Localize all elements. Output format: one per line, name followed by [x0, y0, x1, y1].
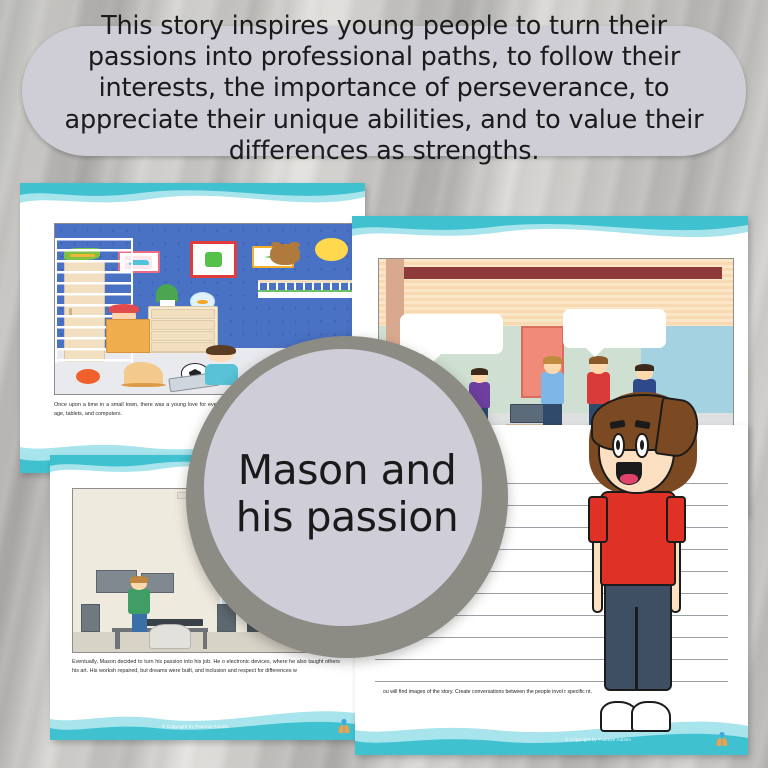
- page-wave-bottom: [50, 706, 368, 740]
- toy-box: [106, 319, 150, 353]
- page-wave-top: [20, 183, 365, 213]
- character-eye-left: [612, 433, 625, 459]
- workshop-page-paragraph: Eventually, Mason decided to turn his pa…: [72, 658, 340, 677]
- title-line-2: his passion: [236, 494, 459, 541]
- title-badge-label: Mason and his passion: [186, 336, 508, 658]
- rocking-horse-icon: [124, 362, 163, 388]
- character-sleeve-left: [588, 496, 608, 544]
- workshop-person-1: [127, 577, 152, 632]
- copyright-text: © Copyright by Positive Autism: [162, 724, 228, 729]
- page-wave-top: [352, 216, 748, 246]
- character-eye-right: [635, 433, 648, 459]
- workshop-chair: [149, 624, 190, 649]
- mason-character: [576, 392, 708, 732]
- title-line-1: Mason and: [236, 447, 459, 494]
- character-shirt: [600, 491, 677, 586]
- basketball-icon: [76, 369, 100, 384]
- header-description-pill: This story inspires young people to turn…: [22, 26, 746, 156]
- empty-speech-bubble-right[interactable]: [563, 309, 666, 349]
- brand-logo-icon: [712, 731, 732, 747]
- character-pants: [604, 579, 673, 691]
- character-shoe-right: [631, 701, 671, 732]
- teddy-bear-icon: [270, 244, 300, 264]
- shop-person-2: [538, 358, 566, 429]
- header-description-text: This story inspires young people to turn…: [48, 11, 720, 167]
- brand-logo-icon: [334, 718, 354, 734]
- copyright-text: © Copyright by Positive Autism: [565, 737, 631, 742]
- picture-frame-robot-icon: [190, 241, 238, 278]
- title-badge: Mason and his passion: [186, 336, 508, 658]
- character-sleeve-right: [666, 496, 686, 544]
- poster-canvas: This story inspires young people to turn…: [0, 0, 768, 768]
- pc-tower-1: [81, 604, 100, 632]
- shop-ceiling-band: [390, 267, 723, 279]
